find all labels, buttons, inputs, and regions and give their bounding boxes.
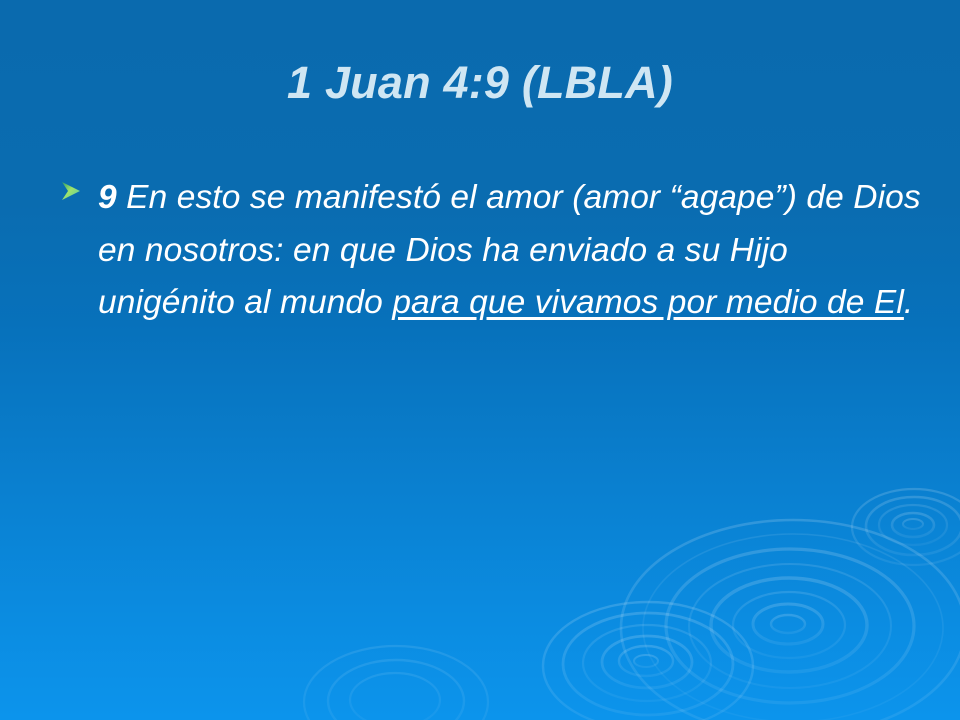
ripple-cluster-left bbox=[543, 602, 753, 720]
verse-text-part-2: . bbox=[904, 284, 913, 321]
verse-number: 9 bbox=[98, 179, 117, 216]
ripple-cluster-top-right bbox=[852, 489, 960, 565]
slide-title: 1 Juan 4:9 (LBLA) bbox=[48, 56, 912, 110]
verse-text-underlined: para que vivamos por medio de El bbox=[392, 284, 904, 321]
ripple-cluster-large bbox=[621, 520, 960, 720]
verse-text: 9 En esto se manifestó el amor (amor “ag… bbox=[98, 172, 932, 330]
bullet-list-item: 9 En esto se manifestó el amor (amor “ag… bbox=[52, 172, 932, 330]
presentation-slide: 1 Juan 4:9 (LBLA) 9 En esto se mani bbox=[0, 0, 960, 720]
slide-body: 9 En esto se manifestó el amor (amor “ag… bbox=[52, 172, 932, 330]
ripple-cluster-bottom-left bbox=[304, 646, 488, 720]
arrowhead-bullet-icon bbox=[58, 178, 84, 204]
